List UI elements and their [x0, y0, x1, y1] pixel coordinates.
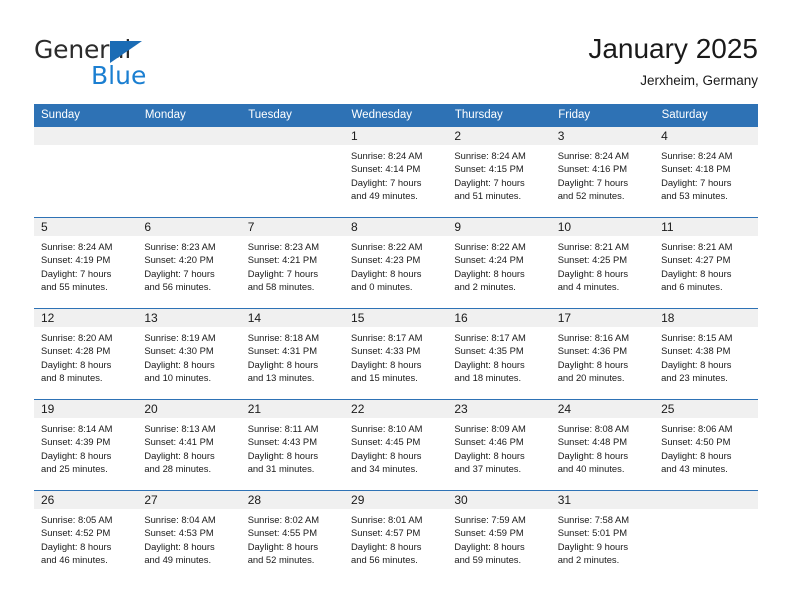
- sunset-text: Sunset: 4:38 PM: [661, 344, 751, 357]
- day-number: 25: [654, 400, 757, 418]
- day-number: 12: [34, 309, 137, 327]
- weekday-header-sunday: Sunday: [34, 104, 137, 127]
- sunset-text: Sunset: 4:25 PM: [558, 253, 648, 266]
- calendar-day-cell[interactable]: 13Sunrise: 8:19 AMSunset: 4:30 PMDayligh…: [137, 309, 240, 400]
- calendar-day-cell[interactable]: 30Sunrise: 7:59 AMSunset: 4:59 PMDayligh…: [447, 491, 550, 582]
- sunrise-text: Sunrise: 8:24 AM: [454, 149, 544, 162]
- daylight-text-line1: Daylight: 8 hours: [454, 358, 544, 371]
- calendar-day-cell[interactable]: 25Sunrise: 8:06 AMSunset: 4:50 PMDayligh…: [654, 400, 757, 491]
- day-number: 24: [551, 400, 654, 418]
- sunrise-text: Sunrise: 8:20 AM: [41, 331, 131, 344]
- sunset-text: Sunset: 4:43 PM: [248, 435, 338, 448]
- daylight-text-line2: and 28 minutes.: [144, 462, 234, 475]
- daylight-text-line1: Daylight: 8 hours: [558, 358, 648, 371]
- sunrise-text: Sunrise: 8:23 AM: [248, 240, 338, 253]
- sunrise-text: Sunrise: 8:18 AM: [248, 331, 338, 344]
- day-number: 31: [551, 491, 654, 509]
- calendar-day-cell[interactable]: 26Sunrise: 8:05 AMSunset: 4:52 PMDayligh…: [34, 491, 137, 582]
- calendar-day-cell[interactable]: 19Sunrise: 8:14 AMSunset: 4:39 PMDayligh…: [34, 400, 137, 491]
- sunrise-text: Sunrise: 8:24 AM: [41, 240, 131, 253]
- daylight-text-line1: Daylight: 8 hours: [351, 358, 441, 371]
- sunset-text: Sunset: 4:36 PM: [558, 344, 648, 357]
- day-number: 11: [654, 218, 757, 236]
- calendar-day-cell[interactable]: 23Sunrise: 8:09 AMSunset: 4:46 PMDayligh…: [447, 400, 550, 491]
- day-details: Sunrise: 8:23 AMSunset: 4:20 PMDaylight:…: [137, 236, 240, 294]
- calendar-day-cell[interactable]: 28Sunrise: 8:02 AMSunset: 4:55 PMDayligh…: [241, 491, 344, 582]
- calendar-cell-empty: [654, 491, 757, 582]
- calendar-day-cell[interactable]: 24Sunrise: 8:08 AMSunset: 4:48 PMDayligh…: [551, 400, 654, 491]
- day-details: Sunrise: 8:11 AMSunset: 4:43 PMDaylight:…: [241, 418, 344, 476]
- sunset-text: Sunset: 4:27 PM: [661, 253, 751, 266]
- day-details: Sunrise: 8:19 AMSunset: 4:30 PMDaylight:…: [137, 327, 240, 385]
- day-number: 28: [241, 491, 344, 509]
- sunrise-text: Sunrise: 8:15 AM: [661, 331, 751, 344]
- daylight-text-line2: and 58 minutes.: [248, 280, 338, 293]
- daylight-text-line1: Daylight: 9 hours: [558, 540, 648, 553]
- daylight-text-line2: and 10 minutes.: [144, 371, 234, 384]
- calendar-week-row: 26Sunrise: 8:05 AMSunset: 4:52 PMDayligh…: [34, 491, 758, 582]
- generalblue-logo[interactable]: General Blue: [34, 36, 244, 92]
- day-details: Sunrise: 8:10 AMSunset: 4:45 PMDaylight:…: [344, 418, 447, 476]
- daylight-text-line1: Daylight: 7 hours: [144, 267, 234, 280]
- calendar-header-row: SundayMondayTuesdayWednesdayThursdayFrid…: [34, 104, 758, 127]
- daylight-text-line1: Daylight: 7 hours: [248, 267, 338, 280]
- day-number: 23: [447, 400, 550, 418]
- daylight-text-line1: Daylight: 8 hours: [661, 358, 751, 371]
- sunrise-text: Sunrise: 8:17 AM: [351, 331, 441, 344]
- page-header: General Blue January 2025 Jerxheim, Germ…: [0, 0, 792, 100]
- sunrise-text: Sunrise: 8:13 AM: [144, 422, 234, 435]
- calendar-day-cell[interactable]: 4Sunrise: 8:24 AMSunset: 4:18 PMDaylight…: [654, 127, 757, 218]
- sunset-text: Sunset: 4:35 PM: [454, 344, 544, 357]
- daylight-text-line2: and 56 minutes.: [351, 553, 441, 566]
- calendar-cell-empty: [137, 127, 240, 218]
- calendar-day-cell[interactable]: 17Sunrise: 8:16 AMSunset: 4:36 PMDayligh…: [551, 309, 654, 400]
- sunset-text: Sunset: 4:59 PM: [454, 526, 544, 539]
- calendar-day-cell[interactable]: 9Sunrise: 8:22 AMSunset: 4:24 PMDaylight…: [447, 218, 550, 309]
- sunrise-text: Sunrise: 8:11 AM: [248, 422, 338, 435]
- sunset-text: Sunset: 4:33 PM: [351, 344, 441, 357]
- sunset-text: Sunset: 4:45 PM: [351, 435, 441, 448]
- sunrise-text: Sunrise: 8:17 AM: [454, 331, 544, 344]
- day-details: Sunrise: 8:17 AMSunset: 4:35 PMDaylight:…: [447, 327, 550, 385]
- calendar-day-cell[interactable]: 7Sunrise: 8:23 AMSunset: 4:21 PMDaylight…: [241, 218, 344, 309]
- daylight-text-line2: and 2 minutes.: [454, 280, 544, 293]
- daylight-text-line1: Daylight: 8 hours: [351, 267, 441, 280]
- day-details: Sunrise: 8:15 AMSunset: 4:38 PMDaylight:…: [654, 327, 757, 385]
- daylight-text-line1: Daylight: 8 hours: [351, 449, 441, 462]
- daylight-text-line1: Daylight: 8 hours: [144, 358, 234, 371]
- sunrise-text: Sunrise: 8:21 AM: [558, 240, 648, 253]
- daylight-text-line1: Daylight: 7 hours: [351, 176, 441, 189]
- sunrise-text: Sunrise: 8:14 AM: [41, 422, 131, 435]
- daylight-text-line1: Daylight: 7 hours: [558, 176, 648, 189]
- daylight-text-line2: and 0 minutes.: [351, 280, 441, 293]
- calendar-day-cell[interactable]: 8Sunrise: 8:22 AMSunset: 4:23 PMDaylight…: [344, 218, 447, 309]
- daylight-text-line2: and 40 minutes.: [558, 462, 648, 475]
- calendar-day-cell[interactable]: 16Sunrise: 8:17 AMSunset: 4:35 PMDayligh…: [447, 309, 550, 400]
- daylight-text-line1: Daylight: 8 hours: [558, 267, 648, 280]
- weekday-header-monday: Monday: [137, 104, 240, 127]
- calendar-page: General Blue January 2025 Jerxheim, Germ…: [0, 0, 792, 612]
- day-details: Sunrise: 8:24 AMSunset: 4:15 PMDaylight:…: [447, 145, 550, 203]
- calendar-day-cell[interactable]: 29Sunrise: 8:01 AMSunset: 4:57 PMDayligh…: [344, 491, 447, 582]
- calendar-day-cell[interactable]: 10Sunrise: 8:21 AMSunset: 4:25 PMDayligh…: [551, 218, 654, 309]
- day-number: 21: [241, 400, 344, 418]
- day-details: Sunrise: 8:18 AMSunset: 4:31 PMDaylight:…: [241, 327, 344, 385]
- daylight-text-line2: and 43 minutes.: [661, 462, 751, 475]
- sunset-text: Sunset: 4:30 PM: [144, 344, 234, 357]
- sunset-text: Sunset: 4:18 PM: [661, 162, 751, 175]
- day-details: Sunrise: 8:06 AMSunset: 4:50 PMDaylight:…: [654, 418, 757, 476]
- day-number: 26: [34, 491, 137, 509]
- day-number: 15: [344, 309, 447, 327]
- daylight-text-line1: Daylight: 8 hours: [661, 449, 751, 462]
- sunset-text: Sunset: 4:55 PM: [248, 526, 338, 539]
- day-number: 5: [34, 218, 137, 236]
- daylight-text-line1: Daylight: 8 hours: [351, 540, 441, 553]
- day-number: [241, 127, 344, 145]
- sunrise-text: Sunrise: 8:22 AM: [351, 240, 441, 253]
- day-number: 18: [654, 309, 757, 327]
- sunset-text: Sunset: 5:01 PM: [558, 526, 648, 539]
- calendar-day-cell[interactable]: 3Sunrise: 8:24 AMSunset: 4:16 PMDaylight…: [551, 127, 654, 218]
- sunrise-text: Sunrise: 8:21 AM: [661, 240, 751, 253]
- day-number: 8: [344, 218, 447, 236]
- sunset-text: Sunset: 4:41 PM: [144, 435, 234, 448]
- day-number: [34, 127, 137, 145]
- sunset-text: Sunset: 4:23 PM: [351, 253, 441, 266]
- day-details: Sunrise: 8:24 AMSunset: 4:14 PMDaylight:…: [344, 145, 447, 203]
- sunrise-text: Sunrise: 8:23 AM: [144, 240, 234, 253]
- daylight-text-line2: and 37 minutes.: [454, 462, 544, 475]
- daylight-text-line2: and 55 minutes.: [41, 280, 131, 293]
- day-number: 1: [344, 127, 447, 145]
- sunrise-text: Sunrise: 8:22 AM: [454, 240, 544, 253]
- title-block: January 2025 Jerxheim, Germany: [588, 32, 758, 89]
- day-number: 22: [344, 400, 447, 418]
- daylight-text-line1: Daylight: 8 hours: [248, 449, 338, 462]
- calendar-table: SundayMondayTuesdayWednesdayThursdayFrid…: [34, 104, 758, 581]
- daylight-text-line1: Daylight: 8 hours: [41, 540, 131, 553]
- sunset-text: Sunset: 4:28 PM: [41, 344, 131, 357]
- calendar-body: 1Sunrise: 8:24 AMSunset: 4:14 PMDaylight…: [34, 127, 758, 582]
- day-details: Sunrise: 7:59 AMSunset: 4:59 PMDaylight:…: [447, 509, 550, 567]
- day-number: 29: [344, 491, 447, 509]
- calendar-day-cell[interactable]: 21Sunrise: 8:11 AMSunset: 4:43 PMDayligh…: [241, 400, 344, 491]
- sunrise-text: Sunrise: 8:16 AM: [558, 331, 648, 344]
- daylight-text-line1: Daylight: 8 hours: [558, 449, 648, 462]
- day-number: 9: [447, 218, 550, 236]
- daylight-text-line1: Daylight: 7 hours: [661, 176, 751, 189]
- daylight-text-line1: Daylight: 8 hours: [454, 267, 544, 280]
- sunrise-text: Sunrise: 8:10 AM: [351, 422, 441, 435]
- day-number: 10: [551, 218, 654, 236]
- weekday-header-thursday: Thursday: [447, 104, 550, 127]
- sunset-text: Sunset: 4:53 PM: [144, 526, 234, 539]
- sunset-text: Sunset: 4:48 PM: [558, 435, 648, 448]
- daylight-text-line1: Daylight: 8 hours: [144, 540, 234, 553]
- sunrise-text: Sunrise: 8:06 AM: [661, 422, 751, 435]
- daylight-text-line2: and 2 minutes.: [558, 553, 648, 566]
- day-details: Sunrise: 8:01 AMSunset: 4:57 PMDaylight:…: [344, 509, 447, 567]
- daylight-text-line2: and 52 minutes.: [248, 553, 338, 566]
- page-subtitle: Jerxheim, Germany: [588, 72, 758, 89]
- daylight-text-line2: and 34 minutes.: [351, 462, 441, 475]
- sunset-text: Sunset: 4:19 PM: [41, 253, 131, 266]
- day-number: 27: [137, 491, 240, 509]
- sunrise-text: Sunrise: 8:24 AM: [351, 149, 441, 162]
- sunset-text: Sunset: 4:24 PM: [454, 253, 544, 266]
- sunrise-text: Sunrise: 8:24 AM: [558, 149, 648, 162]
- sunset-text: Sunset: 4:50 PM: [661, 435, 751, 448]
- calendar-cell-empty: [34, 127, 137, 218]
- calendar-week-row: 19Sunrise: 8:14 AMSunset: 4:39 PMDayligh…: [34, 400, 758, 491]
- sunrise-text: Sunrise: 8:08 AM: [558, 422, 648, 435]
- sunset-text: Sunset: 4:31 PM: [248, 344, 338, 357]
- day-number: 20: [137, 400, 240, 418]
- daylight-text-line2: and 56 minutes.: [144, 280, 234, 293]
- daylight-text-line1: Daylight: 8 hours: [248, 358, 338, 371]
- calendar-week-row: 1Sunrise: 8:24 AMSunset: 4:14 PMDaylight…: [34, 127, 758, 218]
- day-number: [654, 491, 757, 509]
- calendar-week-row: 5Sunrise: 8:24 AMSunset: 4:19 PMDaylight…: [34, 218, 758, 309]
- day-number: 19: [34, 400, 137, 418]
- day-details: Sunrise: 8:16 AMSunset: 4:36 PMDaylight:…: [551, 327, 654, 385]
- calendar-week-row: 12Sunrise: 8:20 AMSunset: 4:28 PMDayligh…: [34, 309, 758, 400]
- calendar-day-cell[interactable]: 5Sunrise: 8:24 AMSunset: 4:19 PMDaylight…: [34, 218, 137, 309]
- logo-triangle-icon: [110, 41, 142, 63]
- daylight-text-line2: and 18 minutes.: [454, 371, 544, 384]
- calendar-day-cell[interactable]: 6Sunrise: 8:23 AMSunset: 4:20 PMDaylight…: [137, 218, 240, 309]
- weekday-header-friday: Friday: [551, 104, 654, 127]
- daylight-text-line2: and 13 minutes.: [248, 371, 338, 384]
- day-details: Sunrise: 7:58 AMSunset: 5:01 PMDaylight:…: [551, 509, 654, 567]
- daylight-text-line1: Daylight: 8 hours: [248, 540, 338, 553]
- calendar-day-cell[interactable]: 12Sunrise: 8:20 AMSunset: 4:28 PMDayligh…: [34, 309, 137, 400]
- day-details: Sunrise: 8:24 AMSunset: 4:18 PMDaylight:…: [654, 145, 757, 203]
- calendar-cell-empty: [241, 127, 344, 218]
- day-details: Sunrise: 8:21 AMSunset: 4:27 PMDaylight:…: [654, 236, 757, 294]
- day-number: 30: [447, 491, 550, 509]
- sunrise-text: Sunrise: 8:01 AM: [351, 513, 441, 526]
- daylight-text-line2: and 6 minutes.: [661, 280, 751, 293]
- day-number: 14: [241, 309, 344, 327]
- logo-text-blue: Blue: [91, 62, 146, 90]
- sunrise-text: Sunrise: 8:04 AM: [144, 513, 234, 526]
- weekday-header-wednesday: Wednesday: [344, 104, 447, 127]
- day-details: Sunrise: 8:08 AMSunset: 4:48 PMDaylight:…: [551, 418, 654, 476]
- daylight-text-line1: Daylight: 7 hours: [454, 176, 544, 189]
- daylight-text-line1: Daylight: 8 hours: [144, 449, 234, 462]
- calendar-day-cell[interactable]: 31Sunrise: 7:58 AMSunset: 5:01 PMDayligh…: [551, 491, 654, 582]
- sunrise-text: Sunrise: 8:09 AM: [454, 422, 544, 435]
- sunset-text: Sunset: 4:39 PM: [41, 435, 131, 448]
- daylight-text-line2: and 20 minutes.: [558, 371, 648, 384]
- day-number: [137, 127, 240, 145]
- day-details: Sunrise: 8:21 AMSunset: 4:25 PMDaylight:…: [551, 236, 654, 294]
- daylight-text-line1: Daylight: 8 hours: [41, 358, 131, 371]
- sunrise-text: Sunrise: 7:58 AM: [558, 513, 648, 526]
- day-details: Sunrise: 8:14 AMSunset: 4:39 PMDaylight:…: [34, 418, 137, 476]
- day-number: 17: [551, 309, 654, 327]
- daylight-text-line2: and 53 minutes.: [661, 189, 751, 202]
- weekday-header-tuesday: Tuesday: [241, 104, 344, 127]
- sunset-text: Sunset: 4:52 PM: [41, 526, 131, 539]
- daylight-text-line2: and 15 minutes.: [351, 371, 441, 384]
- daylight-text-line2: and 49 minutes.: [351, 189, 441, 202]
- calendar-day-cell[interactable]: 14Sunrise: 8:18 AMSunset: 4:31 PMDayligh…: [241, 309, 344, 400]
- calendar-day-cell[interactable]: 15Sunrise: 8:17 AMSunset: 4:33 PMDayligh…: [344, 309, 447, 400]
- daylight-text-line1: Daylight: 8 hours: [454, 449, 544, 462]
- day-details: Sunrise: 8:22 AMSunset: 4:23 PMDaylight:…: [344, 236, 447, 294]
- day-details: Sunrise: 8:22 AMSunset: 4:24 PMDaylight:…: [447, 236, 550, 294]
- day-details: Sunrise: 8:24 AMSunset: 4:19 PMDaylight:…: [34, 236, 137, 294]
- daylight-text-line2: and 4 minutes.: [558, 280, 648, 293]
- day-details: Sunrise: 8:13 AMSunset: 4:41 PMDaylight:…: [137, 418, 240, 476]
- calendar-day-cell[interactable]: 27Sunrise: 8:04 AMSunset: 4:53 PMDayligh…: [137, 491, 240, 582]
- daylight-text-line2: and 8 minutes.: [41, 371, 131, 384]
- sunrise-text: Sunrise: 7:59 AM: [454, 513, 544, 526]
- day-details: Sunrise: 8:02 AMSunset: 4:55 PMDaylight:…: [241, 509, 344, 567]
- calendar-day-cell[interactable]: 1Sunrise: 8:24 AMSunset: 4:14 PMDaylight…: [344, 127, 447, 218]
- daylight-text-line1: Daylight: 8 hours: [41, 449, 131, 462]
- daylight-text-line2: and 23 minutes.: [661, 371, 751, 384]
- daylight-text-line2: and 25 minutes.: [41, 462, 131, 475]
- page-title: January 2025: [588, 32, 758, 66]
- sunset-text: Sunset: 4:14 PM: [351, 162, 441, 175]
- day-details: Sunrise: 8:24 AMSunset: 4:16 PMDaylight:…: [551, 145, 654, 203]
- day-number: 6: [137, 218, 240, 236]
- weekday-header-saturday: Saturday: [654, 104, 757, 127]
- day-number: 3: [551, 127, 654, 145]
- day-details: Sunrise: 8:17 AMSunset: 4:33 PMDaylight:…: [344, 327, 447, 385]
- daylight-text-line2: and 49 minutes.: [144, 553, 234, 566]
- daylight-text-line1: Daylight: 7 hours: [41, 267, 131, 280]
- sunrise-text: Sunrise: 8:24 AM: [661, 149, 751, 162]
- day-details: Sunrise: 8:20 AMSunset: 4:28 PMDaylight:…: [34, 327, 137, 385]
- daylight-text-line1: Daylight: 8 hours: [454, 540, 544, 553]
- day-number: 2: [447, 127, 550, 145]
- day-details: Sunrise: 8:09 AMSunset: 4:46 PMDaylight:…: [447, 418, 550, 476]
- calendar-day-cell[interactable]: 22Sunrise: 8:10 AMSunset: 4:45 PMDayligh…: [344, 400, 447, 491]
- calendar-day-cell[interactable]: 2Sunrise: 8:24 AMSunset: 4:15 PMDaylight…: [447, 127, 550, 218]
- sunrise-text: Sunrise: 8:02 AM: [248, 513, 338, 526]
- calendar-day-cell[interactable]: 11Sunrise: 8:21 AMSunset: 4:27 PMDayligh…: [654, 218, 757, 309]
- daylight-text-line2: and 31 minutes.: [248, 462, 338, 475]
- daylight-text-line2: and 52 minutes.: [558, 189, 648, 202]
- daylight-text-line1: Daylight: 8 hours: [661, 267, 751, 280]
- sunrise-text: Sunrise: 8:05 AM: [41, 513, 131, 526]
- sunset-text: Sunset: 4:20 PM: [144, 253, 234, 266]
- sunset-text: Sunset: 4:21 PM: [248, 253, 338, 266]
- sunset-text: Sunset: 4:16 PM: [558, 162, 648, 175]
- daylight-text-line2: and 59 minutes.: [454, 553, 544, 566]
- calendar-day-cell[interactable]: 18Sunrise: 8:15 AMSunset: 4:38 PMDayligh…: [654, 309, 757, 400]
- day-number: 13: [137, 309, 240, 327]
- day-number: 4: [654, 127, 757, 145]
- sunrise-text: Sunrise: 8:19 AM: [144, 331, 234, 344]
- daylight-text-line2: and 51 minutes.: [454, 189, 544, 202]
- sunset-text: Sunset: 4:46 PM: [454, 435, 544, 448]
- day-number: 16: [447, 309, 550, 327]
- day-details: Sunrise: 8:04 AMSunset: 4:53 PMDaylight:…: [137, 509, 240, 567]
- day-details: Sunrise: 8:05 AMSunset: 4:52 PMDaylight:…: [34, 509, 137, 567]
- calendar-day-cell[interactable]: 20Sunrise: 8:13 AMSunset: 4:41 PMDayligh…: [137, 400, 240, 491]
- sunset-text: Sunset: 4:57 PM: [351, 526, 441, 539]
- daylight-text-line2: and 46 minutes.: [41, 553, 131, 566]
- sunset-text: Sunset: 4:15 PM: [454, 162, 544, 175]
- day-number: 7: [241, 218, 344, 236]
- day-details: Sunrise: 8:23 AMSunset: 4:21 PMDaylight:…: [241, 236, 344, 294]
